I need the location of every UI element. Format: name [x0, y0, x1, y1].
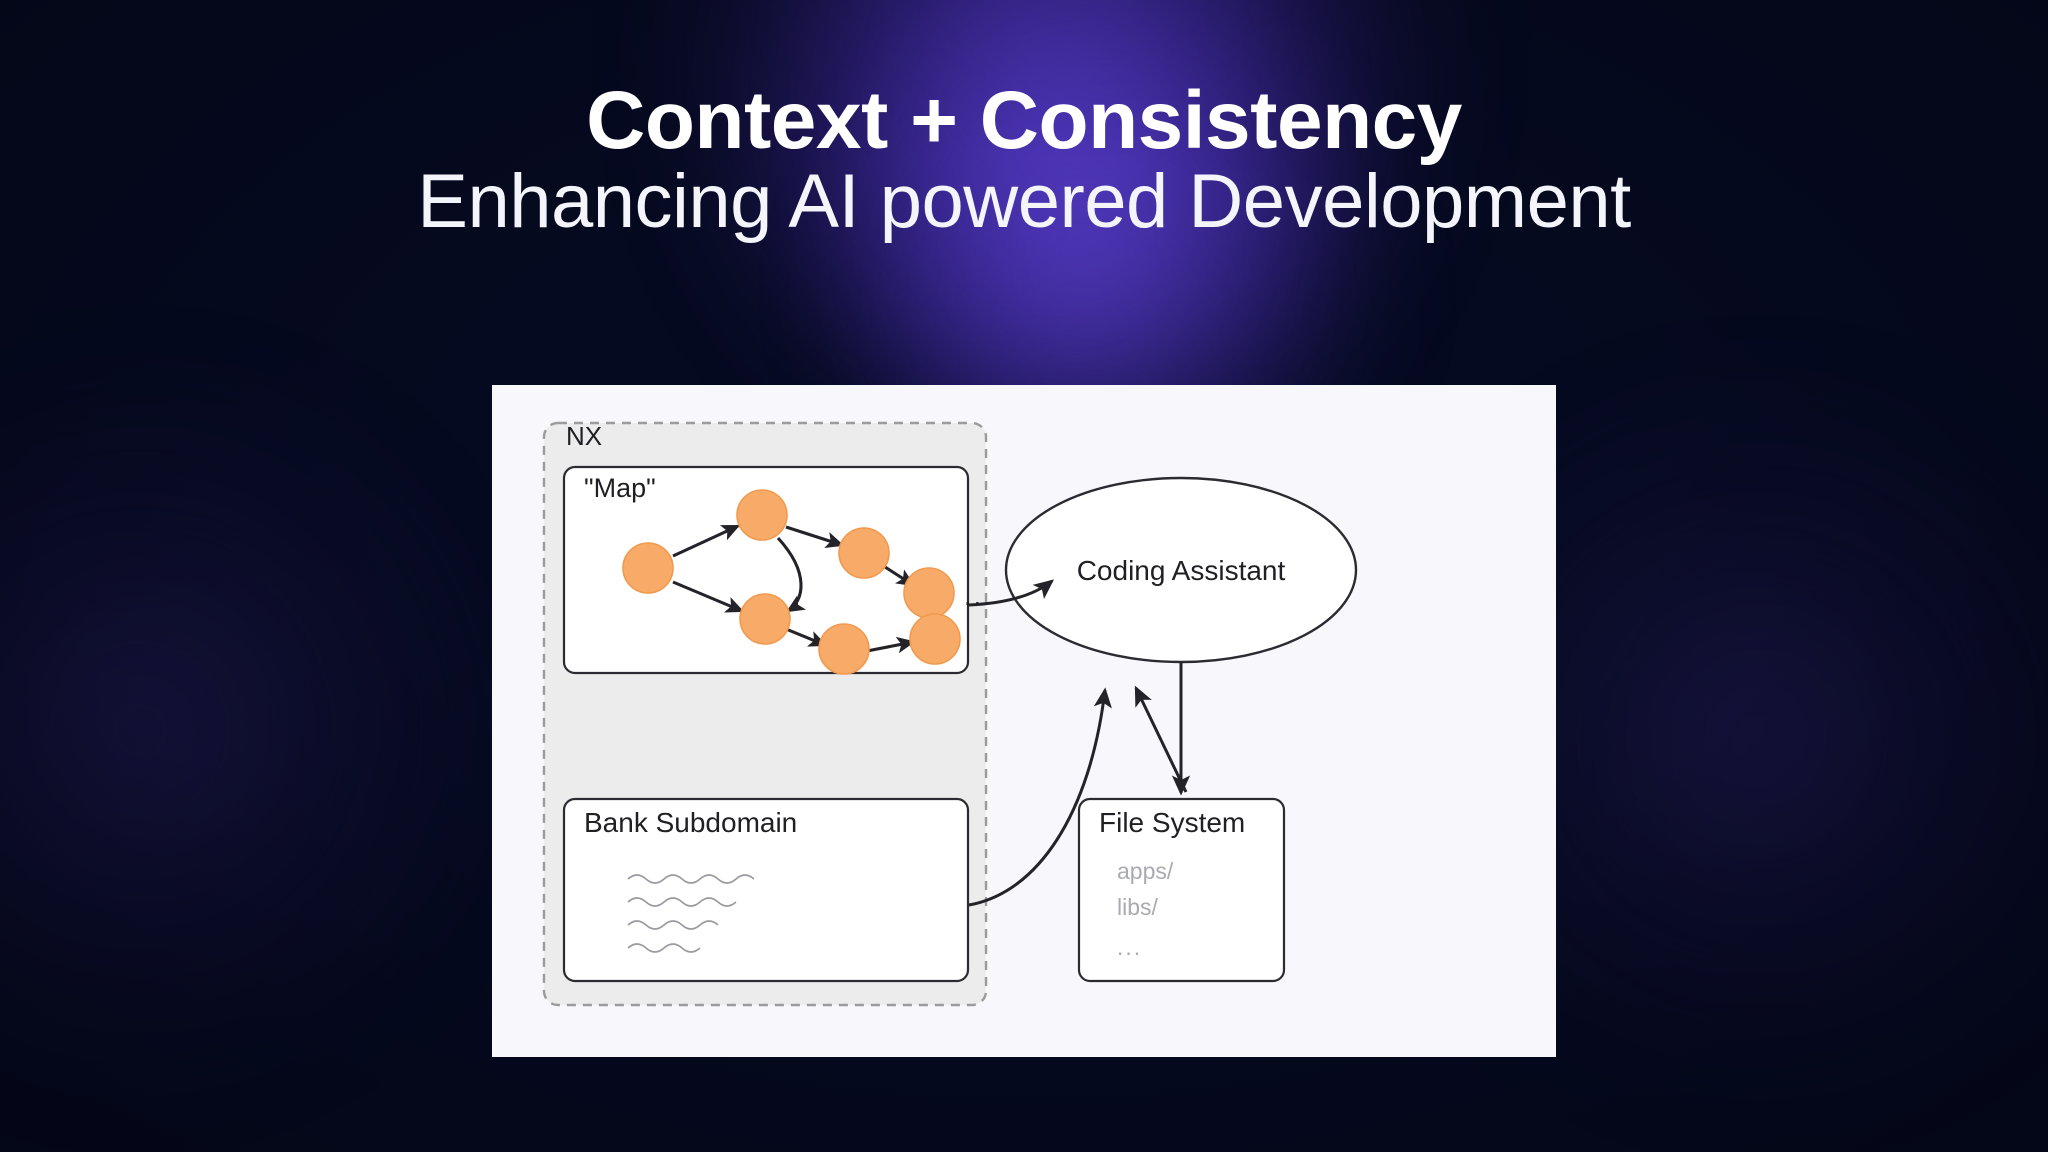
diagram-card: NX "Map"	[492, 385, 1556, 1057]
slide-subtitle: Enhancing AI powered Development	[0, 164, 2048, 240]
connection-filesystem-to-assistant	[1136, 688, 1186, 792]
file-system-card: File System apps/ libs/ ...	[1079, 799, 1284, 981]
background-glow-left	[0, 420, 450, 1040]
graph-node	[623, 543, 673, 593]
nx-group-label: NX	[566, 421, 602, 451]
slide-canvas: Context + Consistency Enhancing AI power…	[0, 0, 2048, 1152]
graph-node	[737, 490, 787, 540]
file-system-entry: apps/	[1117, 858, 1174, 884]
graph-ellipsis: ...	[964, 581, 993, 611]
file-system-entry: ...	[1117, 934, 1142, 960]
file-system-label: File System	[1099, 807, 1245, 838]
coding-assistant-label: Coding Assistant	[1077, 555, 1286, 586]
graph-node	[910, 614, 960, 664]
file-system-entry: libs/	[1117, 894, 1159, 920]
map-card-label: "Map"	[584, 473, 656, 503]
coding-assistant-node: Coding Assistant	[1006, 478, 1356, 662]
diagram-svg: NX "Map"	[492, 385, 1556, 1057]
map-card: "Map"	[564, 467, 993, 674]
graph-node	[740, 594, 790, 644]
bank-subdomain-card: Bank Subdomain	[564, 799, 968, 981]
graph-node	[904, 568, 954, 618]
graph-node	[839, 528, 889, 578]
bank-subdomain-label: Bank Subdomain	[584, 807, 797, 838]
slide-title: Context + Consistency	[0, 80, 2048, 162]
graph-node	[819, 624, 869, 674]
